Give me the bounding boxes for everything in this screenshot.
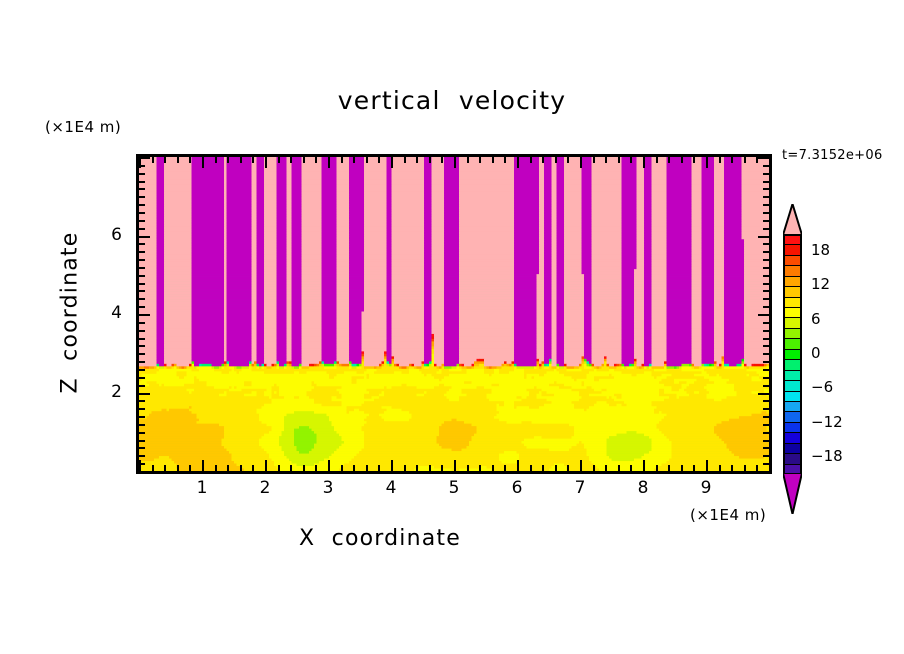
axis-tick: [139, 455, 145, 457]
colorbar-band: [783, 370, 802, 381]
colorbar-band-divider: [783, 411, 802, 412]
colorbar-tick-label: 18: [811, 241, 830, 259]
colorbar-band-divider: [783, 317, 802, 318]
axis-tick: [429, 465, 431, 471]
colorbar-band: [783, 338, 802, 349]
axis-tick: [454, 460, 456, 471]
colorbar-band-divider: [783, 244, 802, 245]
colorbar-band-divider: [783, 255, 802, 256]
axis-tick: [139, 314, 150, 316]
axis-tick: [693, 465, 695, 471]
axis-tick: [265, 157, 267, 168]
axis-tick: [202, 157, 204, 168]
colorbar-band: [783, 422, 802, 433]
colorbar-band: [783, 234, 802, 245]
axis-tick: [706, 157, 708, 168]
axis-tick: [278, 465, 280, 471]
colorbar-band: [783, 380, 802, 391]
colorbar-tick-label: 0: [811, 344, 821, 362]
colorbar-tick-label: 6: [811, 310, 821, 328]
colorbar-under-arrow: [783, 473, 802, 514]
timestamp-annotation: t=7.3152e+06: [782, 148, 883, 163]
y-axis-title: Z coordinate: [58, 183, 83, 443]
axis-tick: [593, 157, 595, 163]
axis-tick: [366, 465, 368, 471]
axis-tick: [763, 290, 769, 292]
axis-tick: [139, 440, 145, 442]
axis-tick: [139, 259, 145, 261]
axis-tick: [763, 322, 769, 324]
axis-tick: [441, 465, 443, 471]
axis-tick: [758, 393, 769, 395]
axis-tick: [580, 157, 582, 168]
axis-tick: [152, 157, 154, 163]
axis-tick: [763, 228, 769, 230]
axis-tick: [139, 408, 145, 410]
axis-tick: [744, 157, 746, 163]
axis-tick: [429, 157, 431, 163]
x-tick-label: 5: [434, 478, 474, 498]
axis-tick: [139, 393, 150, 395]
axis-tick: [758, 471, 769, 473]
x-tick-label: 4: [371, 478, 411, 498]
axis-tick: [630, 465, 632, 471]
axis-tick: [378, 465, 380, 471]
axis-tick: [164, 157, 166, 163]
colorbar-band-divider: [783, 391, 802, 392]
y-axis-unit-label: (×1E4 m): [45, 118, 121, 136]
x-axis-unit-label: (×1E4 m): [690, 506, 766, 524]
axis-tick: [618, 157, 620, 163]
colorbar-band: [783, 317, 802, 328]
axis-tick: [240, 465, 242, 471]
y-tick-label: 6: [96, 225, 122, 245]
axis-tick: [763, 212, 769, 214]
axis-tick: [763, 440, 769, 442]
axis-tick: [542, 465, 544, 471]
colorbar-band-divider: [783, 422, 802, 423]
axis-tick: [139, 460, 141, 471]
colorbar-band-divider: [783, 464, 802, 465]
colorbar-tick-label: −18: [811, 447, 843, 465]
axis-tick: [252, 465, 254, 471]
axis-tick: [643, 460, 645, 471]
axis-tick: [758, 157, 769, 159]
axis-tick: [656, 157, 658, 163]
axis-tick: [177, 157, 179, 163]
axis-tick: [763, 353, 769, 355]
colorbar-band-divider: [783, 401, 802, 402]
axis-tick: [763, 196, 769, 198]
axis-tick: [252, 157, 254, 163]
axis-tick: [139, 322, 145, 324]
axis-tick: [366, 157, 368, 163]
axis-tick: [681, 465, 683, 471]
colorbar-band: [783, 391, 802, 402]
axis-tick: [139, 204, 145, 206]
colorbar-band: [783, 297, 802, 308]
axis-tick: [763, 338, 769, 340]
axis-tick: [763, 251, 769, 253]
colorbar-band-divider: [783, 286, 802, 287]
x-tick-label: 6: [497, 478, 537, 498]
colorbar-band: [783, 432, 802, 443]
axis-tick: [139, 353, 145, 355]
axis-tick: [416, 465, 418, 471]
axis-tick: [763, 345, 769, 347]
colorbar-band: [783, 328, 802, 339]
axis-tick: [391, 157, 393, 168]
colorbar-band-divider: [783, 297, 802, 298]
axis-tick: [668, 465, 670, 471]
axis-tick: [517, 460, 519, 471]
colorbar-band-divider: [783, 380, 802, 381]
axis-tick: [763, 298, 769, 300]
axis-tick: [467, 157, 469, 163]
colorbar-band: [783, 401, 802, 412]
axis-tick: [139, 220, 145, 222]
axis-tick: [290, 157, 292, 163]
axis-tick: [265, 460, 267, 471]
x-tick-label: 1: [182, 478, 222, 498]
axis-tick: [668, 157, 670, 163]
axis-tick: [530, 157, 532, 163]
axis-tick: [763, 455, 769, 457]
axis-tick: [139, 432, 145, 434]
axis-tick: [139, 306, 145, 308]
axis-tick: [139, 173, 145, 175]
colorbar-band-divider: [783, 453, 802, 454]
axis-tick: [467, 465, 469, 471]
contour-plot-area: [136, 154, 772, 474]
axis-tick: [139, 283, 145, 285]
axis-tick: [139, 298, 145, 300]
colorbar-band: [783, 349, 802, 360]
axis-tick: [139, 243, 145, 245]
colorbar-tick-label: 12: [811, 275, 830, 293]
axis-tick: [763, 188, 769, 190]
colorbar-band-divider: [783, 349, 802, 350]
axis-tick: [139, 228, 145, 230]
x-tick-label: 8: [623, 478, 663, 498]
axis-tick: [763, 416, 769, 418]
axis-tick: [492, 465, 494, 471]
axis-tick: [215, 157, 217, 163]
axis-tick: [215, 465, 217, 471]
axis-tick: [693, 157, 695, 163]
colorbar-band: [783, 276, 802, 287]
axis-tick: [504, 465, 506, 471]
axis-tick: [341, 465, 343, 471]
colorbar: 181260−6−12−18: [783, 234, 802, 474]
colorbar-band: [783, 411, 802, 422]
axis-tick: [763, 306, 769, 308]
axis-tick: [763, 181, 769, 183]
axis-tick: [567, 465, 569, 471]
x-axis-title: X coordinate: [0, 526, 760, 551]
colorbar-band-divider: [783, 276, 802, 277]
axis-tick: [139, 188, 145, 190]
axis-tick: [139, 385, 145, 387]
axis-tick: [315, 157, 317, 163]
axis-tick: [763, 432, 769, 434]
axis-tick: [139, 275, 145, 277]
axis-tick: [656, 465, 658, 471]
axis-tick: [353, 465, 355, 471]
x-tick-label: 9: [686, 478, 726, 498]
axis-tick: [731, 465, 733, 471]
axis-tick: [328, 157, 330, 168]
colorbar-band-divider: [783, 359, 802, 360]
axis-tick: [139, 338, 145, 340]
axis-tick: [719, 157, 721, 163]
axis-tick: [744, 465, 746, 471]
axis-tick: [763, 275, 769, 277]
axis-tick: [139, 400, 145, 402]
axis-tick: [758, 236, 769, 238]
axis-tick: [441, 157, 443, 163]
colorbar-band-divider: [783, 328, 802, 329]
axis-tick: [504, 157, 506, 163]
axis-tick: [593, 465, 595, 471]
axis-tick: [189, 157, 191, 163]
colorbar-band: [783, 443, 802, 454]
chart-title: vertical velocity: [0, 86, 904, 115]
colorbar-band-divider: [783, 265, 802, 266]
axis-tick: [378, 157, 380, 163]
colorbar-tick-label: −12: [811, 413, 843, 431]
colorbar-band: [783, 359, 802, 370]
axis-tick: [763, 408, 769, 410]
axis-tick: [763, 267, 769, 269]
axis-tick: [719, 465, 721, 471]
colorbar-over-arrow: [783, 204, 802, 235]
axis-tick: [731, 157, 733, 163]
axis-tick: [763, 424, 769, 426]
axis-tick: [139, 165, 145, 167]
axis-tick: [758, 314, 769, 316]
axis-tick: [139, 181, 145, 183]
axis-tick: [763, 361, 769, 363]
colorbar-band: [783, 286, 802, 297]
axis-tick: [139, 345, 145, 347]
axis-tick: [139, 369, 145, 371]
axis-tick: [530, 465, 532, 471]
axis-tick: [139, 251, 145, 253]
axis-tick: [139, 447, 145, 449]
axis-tick: [139, 377, 145, 379]
axis-tick: [517, 157, 519, 168]
axis-tick: [139, 236, 150, 238]
axis-tick: [763, 243, 769, 245]
axis-tick: [139, 424, 145, 426]
axis-tick: [454, 157, 456, 168]
axis-tick: [763, 377, 769, 379]
axis-tick: [555, 157, 557, 163]
axis-tick: [353, 157, 355, 163]
axis-tick: [492, 157, 494, 163]
axis-tick: [177, 465, 179, 471]
axis-tick: [303, 465, 305, 471]
axis-tick: [542, 157, 544, 163]
axis-tick: [479, 157, 481, 163]
axis-tick: [139, 196, 145, 198]
colorbar-band: [783, 265, 802, 276]
colorbar-band-divider: [783, 338, 802, 339]
y-tick-label: 2: [96, 382, 122, 402]
axis-tick: [404, 465, 406, 471]
axis-tick: [763, 173, 769, 175]
axis-tick: [763, 204, 769, 206]
axis-tick: [763, 400, 769, 402]
axis-tick: [139, 290, 145, 292]
axis-tick: [567, 157, 569, 163]
axis-tick: [341, 157, 343, 163]
axis-tick: [328, 460, 330, 471]
axis-tick: [605, 157, 607, 163]
axis-tick: [139, 416, 145, 418]
axis-tick: [763, 447, 769, 449]
colorbar-tick-label: −6: [811, 378, 833, 396]
axis-tick: [763, 165, 769, 167]
axis-tick: [706, 460, 708, 471]
axis-tick: [763, 463, 769, 465]
axis-tick: [763, 369, 769, 371]
axis-tick: [479, 465, 481, 471]
axis-tick: [139, 267, 145, 269]
axis-tick: [202, 460, 204, 471]
axis-tick: [303, 157, 305, 163]
axis-tick: [763, 259, 769, 261]
colorbar-band-divider: [783, 307, 802, 308]
axis-tick: [763, 220, 769, 222]
x-tick-label: 3: [308, 478, 348, 498]
axis-tick: [227, 465, 229, 471]
axis-tick: [139, 471, 150, 473]
axis-tick: [164, 465, 166, 471]
axis-tick: [618, 465, 620, 471]
axis-tick: [189, 465, 191, 471]
axis-tick: [416, 157, 418, 163]
axis-tick: [139, 330, 145, 332]
colorbar-band-divider: [783, 443, 802, 444]
axis-tick: [763, 385, 769, 387]
axis-tick: [404, 157, 406, 163]
axis-tick: [391, 460, 393, 471]
colorbar-band: [783, 244, 802, 255]
axis-tick: [290, 465, 292, 471]
axis-tick: [763, 283, 769, 285]
vertical-velocity-field: [139, 157, 769, 471]
axis-tick: [580, 460, 582, 471]
y-tick-label: 4: [96, 303, 122, 323]
axis-tick: [139, 361, 145, 363]
x-tick-label: 7: [560, 478, 600, 498]
axis-tick: [139, 212, 145, 214]
axis-tick: [769, 157, 771, 168]
axis-tick: [278, 157, 280, 163]
axis-tick: [769, 460, 771, 471]
axis-tick: [763, 330, 769, 332]
axis-tick: [139, 157, 150, 159]
colorbar-band: [783, 453, 802, 464]
axis-tick: [555, 465, 557, 471]
axis-tick: [152, 465, 154, 471]
figure-canvas: vertical velocity (×1E4 m) t=7.3152e+06 …: [0, 0, 904, 654]
colorbar-band-divider: [783, 432, 802, 433]
axis-tick: [643, 157, 645, 168]
axis-tick: [240, 157, 242, 163]
axis-tick: [315, 465, 317, 471]
axis-tick: [139, 463, 145, 465]
colorbar-band: [783, 255, 802, 266]
axis-tick: [681, 157, 683, 163]
axis-tick: [227, 157, 229, 163]
colorbar-band: [783, 307, 802, 318]
x-tick-label: 2: [245, 478, 285, 498]
colorbar-band-divider: [783, 370, 802, 371]
axis-tick: [630, 157, 632, 163]
axis-tick: [605, 465, 607, 471]
